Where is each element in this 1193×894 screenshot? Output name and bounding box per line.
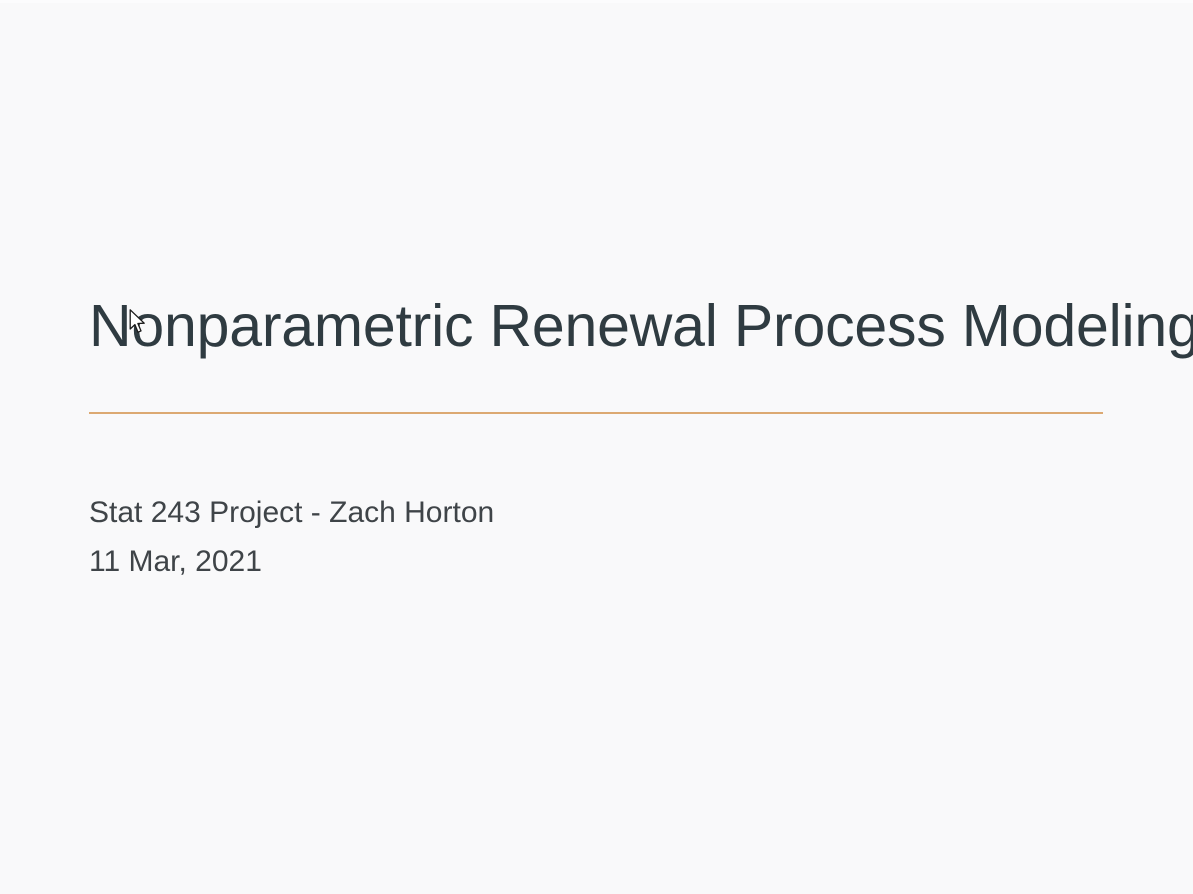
subtitle-date-line: 11 Mar, 2021 bbox=[89, 538, 1104, 587]
title-accent-rule bbox=[89, 412, 1103, 414]
presentation-viewport: Nonparametric Renewal Process Modeling S… bbox=[0, 0, 1193, 894]
title-block: Nonparametric Renewal Process Modeling bbox=[89, 296, 1104, 358]
subtitle-block: Stat 243 Project - Zach Horton 11 Mar, 2… bbox=[89, 489, 1104, 586]
title-slide: Nonparametric Renewal Process Modeling S… bbox=[0, 0, 1193, 894]
subtitle-author-line: Stat 243 Project - Zach Horton bbox=[89, 489, 1104, 538]
slide-title: Nonparametric Renewal Process Modeling bbox=[89, 296, 1104, 358]
